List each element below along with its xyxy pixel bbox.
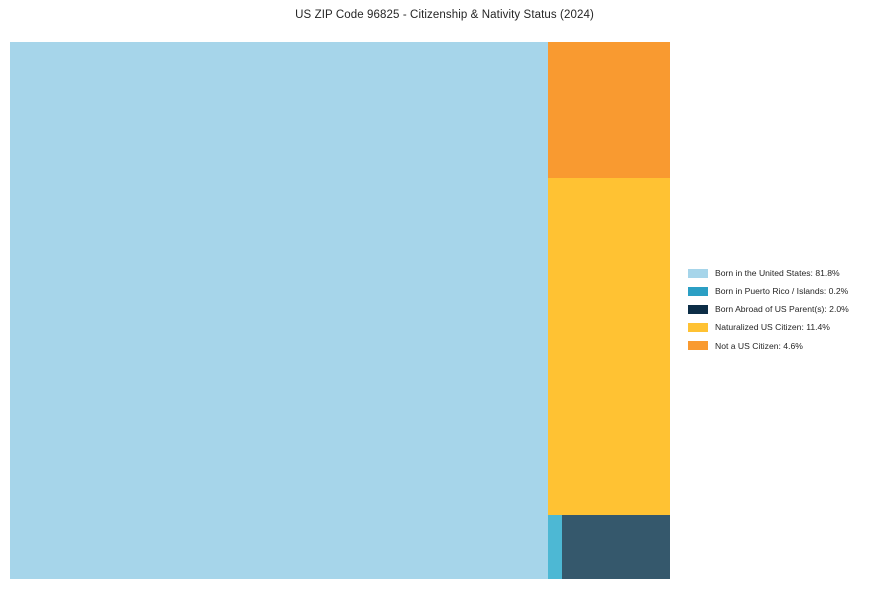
chart-title: US ZIP Code 96825 - Citizenship & Nativi… xyxy=(0,9,889,21)
treemap-tile[interactable] xyxy=(548,515,562,579)
legend-item[interactable]: Naturalized US Citizen: 11.4% xyxy=(688,319,883,337)
legend-swatch-icon xyxy=(688,341,708,350)
treemap-plot-area xyxy=(10,42,670,579)
legend-swatch-icon xyxy=(688,287,708,296)
legend-item[interactable]: Born in the United States: 81.8% xyxy=(688,264,883,282)
legend-item-label: Not a US Citizen: 4.6% xyxy=(715,342,803,351)
legend-item-label: Born in the United States: 81.8% xyxy=(715,269,840,278)
legend-item-label: Naturalized US Citizen: 11.4% xyxy=(715,323,830,332)
legend-item[interactable]: Not a US Citizen: 4.6% xyxy=(688,337,883,355)
treemap-tile[interactable] xyxy=(548,42,670,178)
treemap-tile[interactable] xyxy=(10,42,548,579)
chart-legend: Born in the United States: 81.8%Born in … xyxy=(688,264,883,355)
legend-item[interactable]: Born in Puerto Rico / Islands: 0.2% xyxy=(688,282,883,300)
treemap-chart: US ZIP Code 96825 - Citizenship & Nativi… xyxy=(0,0,889,590)
treemap-tile[interactable] xyxy=(562,515,670,579)
legend-item-label: Born Abroad of US Parent(s): 2.0% xyxy=(715,305,849,314)
legend-item[interactable]: Born Abroad of US Parent(s): 2.0% xyxy=(688,300,883,318)
legend-item-label: Born in Puerto Rico / Islands: 0.2% xyxy=(715,287,848,296)
legend-swatch-icon xyxy=(688,269,708,278)
legend-swatch-icon xyxy=(688,305,708,314)
treemap-tile[interactable] xyxy=(548,178,670,515)
legend-swatch-icon xyxy=(688,323,708,332)
